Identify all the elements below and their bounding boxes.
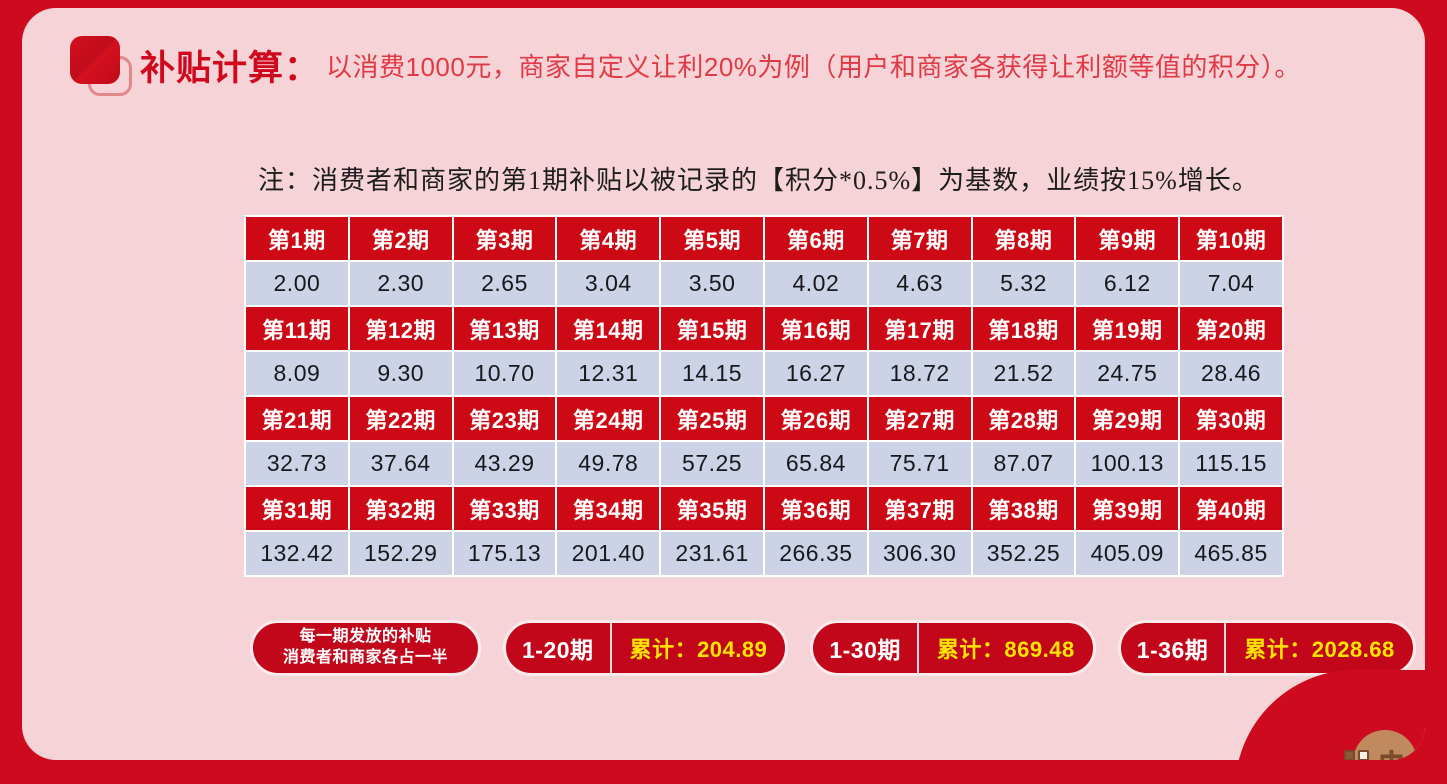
table-header-cell: 第9期 (1076, 217, 1178, 260)
zhong-character-icon: 中 (1379, 751, 1404, 761)
table-value-cell: 28.46 (1180, 352, 1282, 395)
table-header-row: 第31期第32期第33期第34期第35期第36期第37期第38期第39期第40期 (246, 487, 1282, 530)
table-value-cell: 12.31 (557, 352, 659, 395)
table-value-cell: 43.29 (454, 442, 556, 485)
table-header-cell: 第17期 (869, 307, 971, 350)
table-value-cell: 16.27 (765, 352, 867, 395)
page-subtitle: 以消费1000元，商家自定义让利20%为例（用户和商家各获得让利额等值的积分）。 (326, 47, 1301, 84)
table-header-cell: 第4期 (557, 217, 659, 260)
table-header-cell: 第14期 (557, 307, 659, 350)
table-value-cell: 3.50 (661, 262, 763, 305)
table-value-cell: 49.78 (557, 442, 659, 485)
table-row: 132.42152.29175.13201.40231.61266.35306.… (246, 532, 1282, 575)
rounded-square-icon (62, 34, 140, 96)
table-header-cell: 第15期 (661, 307, 763, 350)
table-header-cell: 第36期 (765, 487, 867, 530)
table-value-cell: 21.52 (973, 352, 1075, 395)
pill-range-label: 1-30期 (813, 623, 919, 673)
table-value-cell: 10.70 (454, 352, 556, 395)
table-header-cell: 第23期 (454, 397, 556, 440)
table-value-cell: 3.04 (557, 262, 659, 305)
table-header-cell: 第19期 (1076, 307, 1178, 350)
table-value-cell: 32.73 (246, 442, 348, 485)
table-header-cell: 第37期 (869, 487, 971, 530)
table-value-cell: 65.84 (765, 442, 867, 485)
table-value-cell: 2.00 (246, 262, 348, 305)
table-value-cell: 231.61 (661, 532, 763, 575)
pill-total-label: 累计：2028.68 (1226, 623, 1413, 673)
table-value-cell: 37.64 (350, 442, 452, 485)
pill-note-line1: 每一期发放的补贴 (300, 627, 432, 648)
table-value-cell: 152.29 (350, 532, 452, 575)
table-header-cell: 第11期 (246, 307, 348, 350)
table-value-cell: 465.85 (1180, 532, 1282, 575)
table-header-cell: 第28期 (973, 397, 1075, 440)
table-header-cell: 第2期 (350, 217, 452, 260)
table-row: 2.002.302.653.043.504.024.635.326.127.04 (246, 262, 1282, 305)
pill-note-line2: 消费者和商家各占一半 (283, 648, 448, 669)
pill-total-label: 累计：869.48 (919, 623, 1093, 673)
table-header-cell: 第16期 (765, 307, 867, 350)
pill-note[interactable]: 每一期发放的补贴 消费者和商家各占一半 (250, 620, 481, 676)
table-value-cell: 2.65 (454, 262, 556, 305)
summary-pill[interactable]: 1-36期累计：2028.68 (1118, 620, 1416, 676)
header: 补贴计算： 以消费1000元，商家自定义让利20%为例（用户和商家各获得让利额等… (62, 34, 1301, 96)
table-header-cell: 第12期 (350, 307, 452, 350)
table-value-cell: 4.63 (869, 262, 971, 305)
pill-range-label: 1-36期 (1121, 623, 1227, 673)
rounded-square-solid (70, 36, 120, 84)
table-value-cell: 352.25 (973, 532, 1075, 575)
table-value-cell: 4.02 (765, 262, 867, 305)
table-header-cell: 第26期 (765, 397, 867, 440)
pill-total-label: 累计：204.89 (612, 623, 786, 673)
pill-range-label: 1-20期 (506, 623, 612, 673)
slide-root: 补贴计算： 以消费1000元，商家自定义让利20%为例（用户和商家各获得让利额等… (0, 0, 1447, 784)
table-header-cell: 第21期 (246, 397, 348, 440)
table-row: 32.7337.6443.2949.7857.2565.8475.7187.07… (246, 442, 1282, 485)
content-panel: 补贴计算： 以消费1000元，商家自定义让利20%为例（用户和商家各获得让利额等… (22, 8, 1425, 760)
table-value-cell: 14.15 (661, 352, 763, 395)
table-value-cell: 18.72 (869, 352, 971, 395)
grid-squares-icon (1344, 750, 1370, 760)
table-value-cell: 75.71 (869, 442, 971, 485)
table-row: 8.099.3010.7012.3114.1516.2718.7221.5224… (246, 352, 1282, 395)
page-title: 补贴计算： (140, 40, 320, 91)
table-header-cell: 第31期 (246, 487, 348, 530)
table-value-cell: 132.42 (246, 532, 348, 575)
table-header-cell: 第20期 (1180, 307, 1282, 350)
table-header-cell: 第30期 (1180, 397, 1282, 440)
table-header-cell: 第35期 (661, 487, 763, 530)
table-value-cell: 2.30 (350, 262, 452, 305)
table-header-cell: 第3期 (454, 217, 556, 260)
table-value-cell: 57.25 (661, 442, 763, 485)
table-value-cell: 9.30 (350, 352, 452, 395)
table-header-cell: 第10期 (1180, 217, 1282, 260)
table-header-cell: 第22期 (350, 397, 452, 440)
table-value-cell: 266.35 (765, 532, 867, 575)
table-header-cell: 第38期 (973, 487, 1075, 530)
table-value-cell: 7.04 (1180, 262, 1282, 305)
table-header-cell: 第8期 (973, 217, 1075, 260)
table-header-cell: 第25期 (661, 397, 763, 440)
table-header-cell: 第24期 (557, 397, 659, 440)
table-value-cell: 115.15 (1180, 442, 1282, 485)
table-header-cell: 第6期 (765, 217, 867, 260)
corner-watermark-icons: 中 (1344, 750, 1425, 760)
table-value-cell: 306.30 (869, 532, 971, 575)
table-value-cell: 87.07 (973, 442, 1075, 485)
table-header-row: 第21期第22期第23期第24期第25期第26期第27期第28期第29期第30期 (246, 397, 1282, 440)
table-header-cell: 第1期 (246, 217, 348, 260)
table-header-cell: 第18期 (973, 307, 1075, 350)
table-header-row: 第11期第12期第13期第14期第15期第16期第17期第18期第19期第20期 (246, 307, 1282, 350)
subsidy-table: 第1期第2期第3期第4期第5期第6期第7期第8期第9期第10期2.002.302… (244, 215, 1284, 577)
summary-pills: 每一期发放的补贴 消费者和商家各占一半 1-20期累计：204.891-30期累… (250, 620, 1416, 676)
table-value-cell: 175.13 (454, 532, 556, 575)
summary-pill[interactable]: 1-20期累计：204.89 (503, 620, 788, 676)
summary-pill[interactable]: 1-30期累计：869.48 (810, 620, 1095, 676)
table-header-cell: 第29期 (1076, 397, 1178, 440)
table-value-cell: 201.40 (557, 532, 659, 575)
table-header-cell: 第32期 (350, 487, 452, 530)
table-header-cell: 第27期 (869, 397, 971, 440)
table-value-cell: 24.75 (1076, 352, 1178, 395)
table-value-cell: 5.32 (973, 262, 1075, 305)
table-header-cell: 第7期 (869, 217, 971, 260)
table-header-cell: 第39期 (1076, 487, 1178, 530)
table-header-cell: 第13期 (454, 307, 556, 350)
table-header-cell: 第33期 (454, 487, 556, 530)
table-header-cell: 第34期 (557, 487, 659, 530)
note-text: 注：消费者和商家的第1期补贴以被记录的【积分*0.5%】为基数，业绩按15%增长… (258, 160, 1259, 197)
table-header-row: 第1期第2期第3期第4期第5期第6期第7期第8期第9期第10期 (246, 217, 1282, 260)
table-header-cell: 第40期 (1180, 487, 1282, 530)
table-value-cell: 8.09 (246, 352, 348, 395)
table-value-cell: 6.12 (1076, 262, 1178, 305)
t-shirt-icon (1413, 751, 1425, 760)
table-value-cell: 100.13 (1076, 442, 1178, 485)
table-header-cell: 第5期 (661, 217, 763, 260)
table-value-cell: 405.09 (1076, 532, 1178, 575)
